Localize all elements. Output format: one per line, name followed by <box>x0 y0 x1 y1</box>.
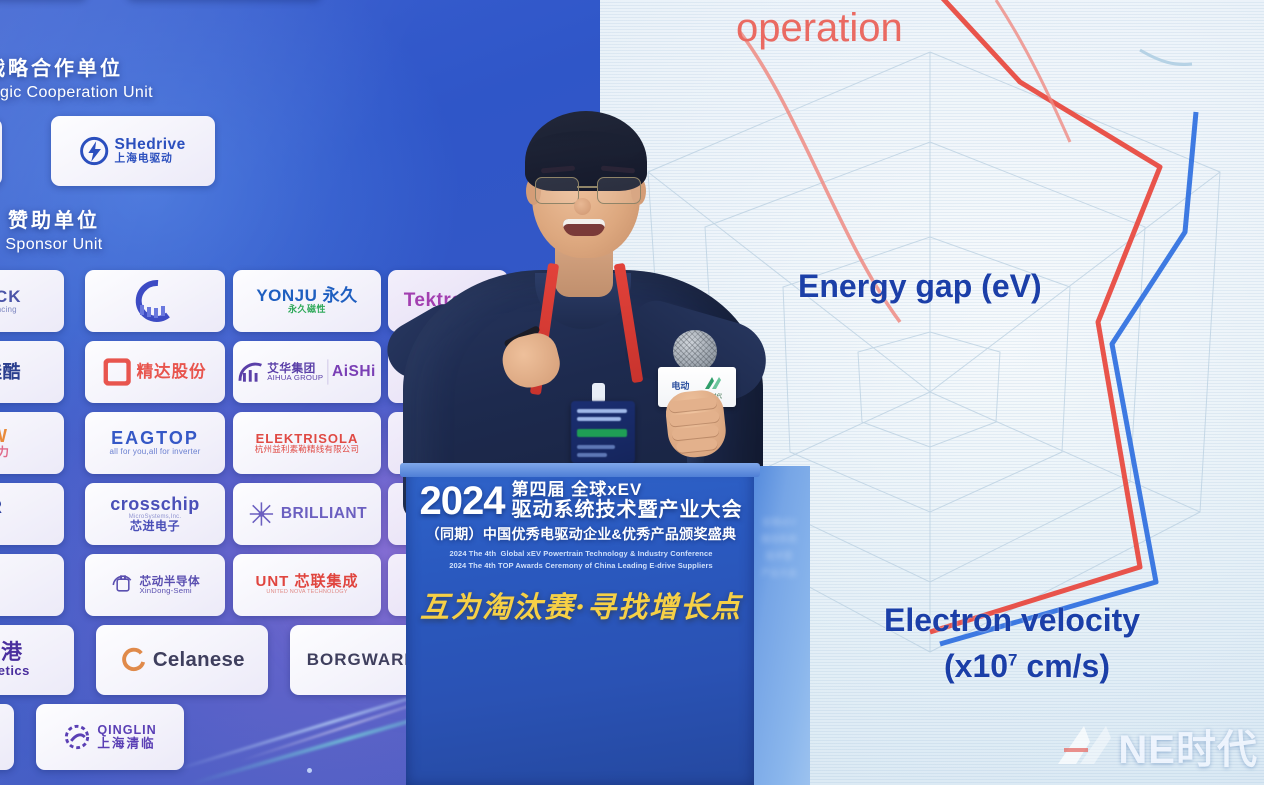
ne-watermark: NE时代 <box>1054 717 1258 775</box>
logo-tile-celanese: Celanese <box>96 625 268 695</box>
square-outline-icon <box>104 358 131 385</box>
logo-sublabel: 杭州益利素勒精线有限公司 <box>255 445 359 454</box>
logo-tile-yonju: YONJU 永久 永久磁性 <box>233 270 381 332</box>
sponsor-logo-wall: 电动车辆专业委员会 Electric Vehicle Professional … <box>0 0 424 785</box>
logo-sublabel: 芯进电子 <box>110 520 200 532</box>
logo-tile-hero-magnetics: 富霖金港 Hero Magnetics <box>0 625 74 695</box>
ne-watermark-text: NE时代 <box>1118 717 1258 775</box>
logo-tile-aihua-group: 艾华集团 AIHUA GROUP AiSHi <box>233 341 381 403</box>
speaker-hair-fringe <box>531 131 641 165</box>
logo-tile-tai: 泰 TAI <box>0 704 14 770</box>
podium: 全球xEV驱动系统技术暨产业大会 2024 第四届 全球xEV 驱动系统技术暨产… <box>400 470 810 785</box>
logo-sublabel: 上海清临 <box>98 737 157 750</box>
logo-tile-qinglin: QINGLIN 上海清临 <box>36 704 184 770</box>
logo-label: EAGTOP <box>110 429 201 448</box>
logo-tile-crrc: 中国中车 CRRC <box>0 118 2 186</box>
logo-label: YONJU 永久 <box>256 287 357 305</box>
section-title-cn: 赞助单位 <box>0 204 204 233</box>
speaker-nose <box>574 198 591 215</box>
logo-label: 富霖金港 <box>0 642 30 664</box>
mic-flag-left-text: 电动 <box>671 382 689 391</box>
logo-tile-elektrisola: ELEKTRISOLA 杭州益利素勒精线有限公司 <box>233 412 381 474</box>
speaker-mouth <box>563 219 605 236</box>
logo-tile-emt-energy: eMT 新能源 <box>0 554 64 616</box>
podium-slogan: 互为淘汰赛·寻找增长点 <box>416 584 746 626</box>
logo-label: BRILLIANT <box>280 506 366 522</box>
swirl-icon <box>120 646 147 673</box>
electron-velocity-units-suffix: cm/s) <box>1018 648 1110 684</box>
podium-english-line2: 2024 The 4th TOP Awards Ceremony of Chin… <box>416 560 746 571</box>
podium-heading-line1: 第四届 全球xEV <box>511 480 742 499</box>
podium-heading-line2: 驱动系统技术暨产业大会 <box>511 499 742 521</box>
operation-label: operation <box>736 6 903 51</box>
logo-label: iCool 硅酷 <box>0 363 21 382</box>
logo-sublabel: 阳光电动力 <box>0 446 11 458</box>
podium-side-panel: 全球xEV驱动系统技术暨产业大会 <box>748 466 810 785</box>
glasses-bridge <box>577 186 597 188</box>
microphone-mesh <box>673 330 717 372</box>
logo-label: 精达股份 <box>137 363 207 380</box>
logo-tile-brilliant: BRILLIANT <box>233 483 381 545</box>
ne-logo-icon <box>703 375 723 391</box>
logo-label-aishi: AiSHi <box>332 364 376 380</box>
speaker-person: 电动 NE时代 <box>395 95 775 515</box>
section-title-en: Sponsor Unit <box>0 236 204 254</box>
logo-tile-eagtop: EAGTOP all for you,all for inverter <box>85 412 225 474</box>
spiral-icon <box>128 279 182 323</box>
podium-english-line1: 2024 The 4th Global xEV Powertrain Techn… <box>416 548 746 559</box>
energy-gap-label: Energy gap (eV) <box>798 268 1042 305</box>
logo-sublabel: AIHUA GROUP <box>267 374 323 382</box>
logo-label: ELEKTRISOLA <box>255 432 359 446</box>
glasses-lens-right <box>597 177 641 204</box>
logo-label: UNT 芯联集成 <box>256 574 359 590</box>
logo-tile-icool: iCool 硅酷 <box>0 341 64 403</box>
chip-recycle-icon <box>110 572 135 597</box>
logo-tile-schenck: SCHENCK Passion for Balancing <box>0 270 64 332</box>
logo-sublabel: Passion for Balancing <box>0 306 22 314</box>
logo-tile-sungrow: GROW 阳光电动力 <box>0 412 64 474</box>
logo-label: Celanese <box>153 649 245 670</box>
conference-photo: Energy gap (eV) operation Electron veloc… <box>0 0 1264 785</box>
podium-title-row: 2024 第四届 全球xEV 驱动系统技术暨产业大会 <box>416 480 746 521</box>
logo-sublabel: 永久磁性 <box>256 305 357 314</box>
podium-top-surface <box>400 463 760 477</box>
logo-sublabel: Hero Magnetics <box>0 664 30 678</box>
logo-label: SHedrive <box>115 137 186 153</box>
logo-sublabel: XinDong-Semi <box>139 587 200 595</box>
fan-icon <box>238 359 263 384</box>
section-title-en: Strategic Cooperation Unit <box>0 84 204 102</box>
logo-label: ENER <box>0 498 3 517</box>
electron-velocity-exponent: 7 <box>1008 650 1017 669</box>
lightning-circle-icon <box>80 136 109 165</box>
sponsor-section-header: 赞助单位 Sponsor Unit <box>0 204 204 254</box>
logo-label: GROW <box>0 427 11 446</box>
podium-signage: 2024 第四届 全球xEV 驱动系统技术暨产业大会 （同期）中国优秀电驱动企业… <box>416 480 746 626</box>
podium-side-text: 全球xEV驱动系统技术暨产业大会 <box>754 514 804 744</box>
logo-tile-crosschip: crosschip MicroSystems,Inc. 芯进电子 <box>85 483 225 545</box>
logo-tile-unt: UNT 芯联集成 UNITED NOVA TECHNOLOGY <box>233 554 381 616</box>
podium-year: 2024 <box>420 482 505 520</box>
logo-tile-ener-micro: ENER 微电子 <box>0 483 64 545</box>
electron-velocity-units-base: (x10 <box>944 648 1008 684</box>
logo-label: SCHENCK <box>0 288 22 306</box>
logo-label: crosschip <box>110 495 200 514</box>
logo-sublabel: all for you,all for inverter <box>110 448 201 456</box>
speaker-badge <box>571 401 635 463</box>
gear-leaf-icon <box>63 722 92 751</box>
podium-english-lines: 2024 The 4th Global xEV Powertrain Techn… <box>416 548 746 571</box>
logo-sublabel: 微电子 <box>0 517 3 531</box>
electron-velocity-label: Electron velocity <box>884 602 1140 639</box>
podium-subtitle: （同期）中国优秀电驱动企业&优秀产品颁奖盛典 <box>416 524 746 544</box>
logo-tile-xindong-semi: 芯动半导体 XinDong-Semi <box>85 554 225 616</box>
logo-tile-shedrive: SHedrive 上海电驱动 <box>51 116 215 186</box>
starburst-icon <box>247 500 274 527</box>
badge-clip <box>592 383 605 403</box>
glasses-lens-left <box>535 177 579 204</box>
electron-velocity-units: (x107 cm/s) <box>944 648 1110 685</box>
podium-heading: 第四届 全球xEV 驱动系统技术暨产业大会 <box>511 480 742 521</box>
logo-tile-jingda: 精达股份 <box>85 341 225 403</box>
strategic-section-header: 战略合作单位 Strategic Cooperation Unit <box>0 52 204 102</box>
logo-sublabel: UNITED NOVA TECHNOLOGY <box>256 590 359 596</box>
section-title-cn: 战略合作单位 <box>0 52 204 81</box>
logo-sublabel: 上海电驱动 <box>115 154 186 165</box>
floor-light-dot <box>307 768 312 773</box>
ne-watermark-icon <box>1054 720 1112 772</box>
logo-tile-hengli-spiral <box>85 270 225 332</box>
